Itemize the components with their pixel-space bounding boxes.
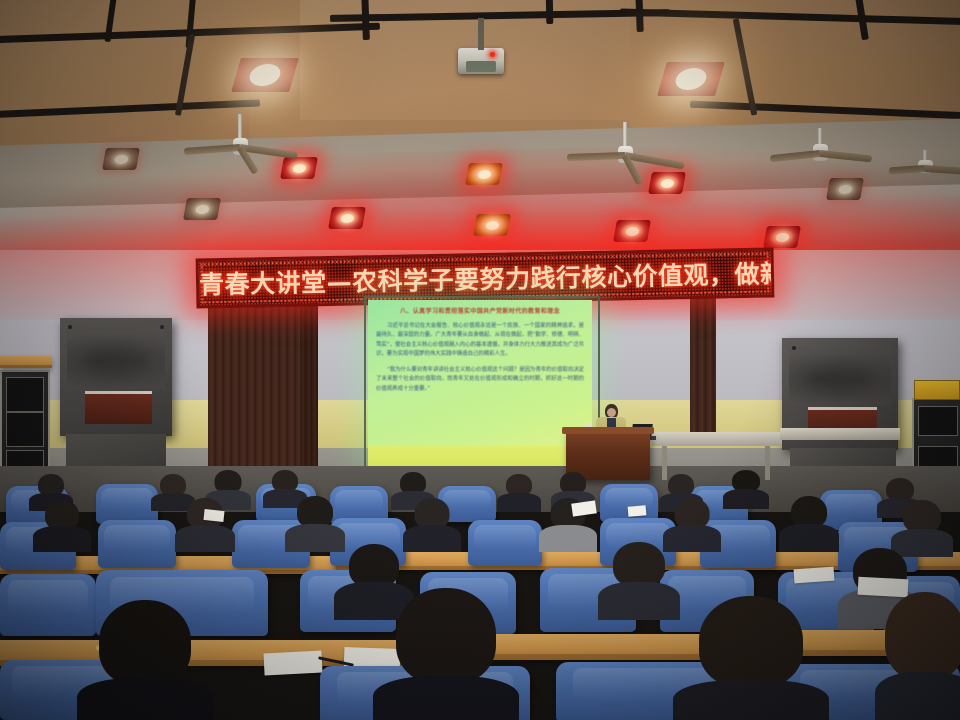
stage-table (652, 432, 782, 446)
audience-member (600, 542, 678, 614)
ceiling-beam (546, 0, 554, 24)
slide-title: 八、认真学习和贯彻落实中国共产党新时代的教育和理念 (376, 306, 584, 315)
stage-curtain-left (300, 292, 318, 478)
paper-sheet (628, 505, 647, 517)
lecture-hall-photo: 青春大讲堂—农科学子要努力践行核心价值观，做新时代弄潮儿 八、认真学习和贯彻落实… (0, 0, 960, 720)
stage-table-right (780, 428, 900, 440)
rack-top-shelf-left (0, 356, 52, 368)
audience-member (498, 474, 540, 510)
audience-member (664, 498, 720, 548)
slide-paragraph-2: “我为什么要对青年讲讲社会主义核心价值观这个问题？是因为青年的价值取向决定了未来… (376, 366, 584, 394)
recessed-downlight (763, 226, 801, 248)
audience-member-foreground (676, 596, 826, 720)
recessed-downlight (473, 214, 511, 236)
chair (98, 520, 176, 568)
recessed-downlight (102, 148, 140, 170)
slide-paragraph-1: 习近平总书记在大会报告、核心价值观永远是一个民族、一个国家的精神追求，是最持久、… (376, 322, 584, 359)
audience-member (724, 470, 768, 508)
presenter-face (607, 408, 616, 417)
stage-curtain-right (690, 292, 716, 442)
recessed-downlight (826, 178, 864, 200)
audience-member (286, 496, 344, 548)
ceiling-spotlight (657, 62, 725, 96)
ceiling-projector (458, 48, 504, 74)
audience-member (404, 498, 460, 548)
audience-member-foreground (880, 592, 960, 720)
chair (468, 520, 542, 566)
recessed-downlight (613, 220, 651, 242)
chair (96, 484, 158, 524)
recessed-downlight (328, 207, 366, 229)
paper-sheet (203, 509, 224, 522)
recessed-downlight (183, 198, 221, 220)
audience-member-foreground (376, 588, 516, 720)
audience-member (780, 496, 838, 548)
ceiling-fan (880, 150, 960, 190)
wall-speaker-left (60, 318, 172, 436)
ceiling-fan (565, 122, 685, 172)
slide-footer-band (368, 446, 592, 466)
paper-sheet (794, 567, 835, 584)
ceiling-beam (361, 0, 370, 40)
projector-lens (466, 61, 496, 72)
notebook-page (263, 650, 322, 675)
ceiling-fan (760, 128, 880, 178)
recessed-downlight (465, 163, 503, 185)
ceiling-fan (180, 114, 300, 164)
amplifier-box (914, 380, 960, 400)
ceiling-spotlight (231, 58, 299, 92)
projector-mount (478, 18, 484, 50)
ceiling-beam (635, 0, 643, 32)
stage-curtain-left (208, 290, 300, 482)
recessed-downlight (648, 172, 686, 194)
projector-indicator-led (490, 52, 495, 57)
audience-member (892, 500, 952, 552)
audience-member (34, 500, 90, 548)
audience-member-foreground (80, 600, 210, 720)
audience-member (176, 498, 234, 548)
projection-screen: 八、认真学习和贯彻落实中国共产党新时代的教育和理念 习近平总书记在大会报告、核心… (368, 300, 592, 466)
